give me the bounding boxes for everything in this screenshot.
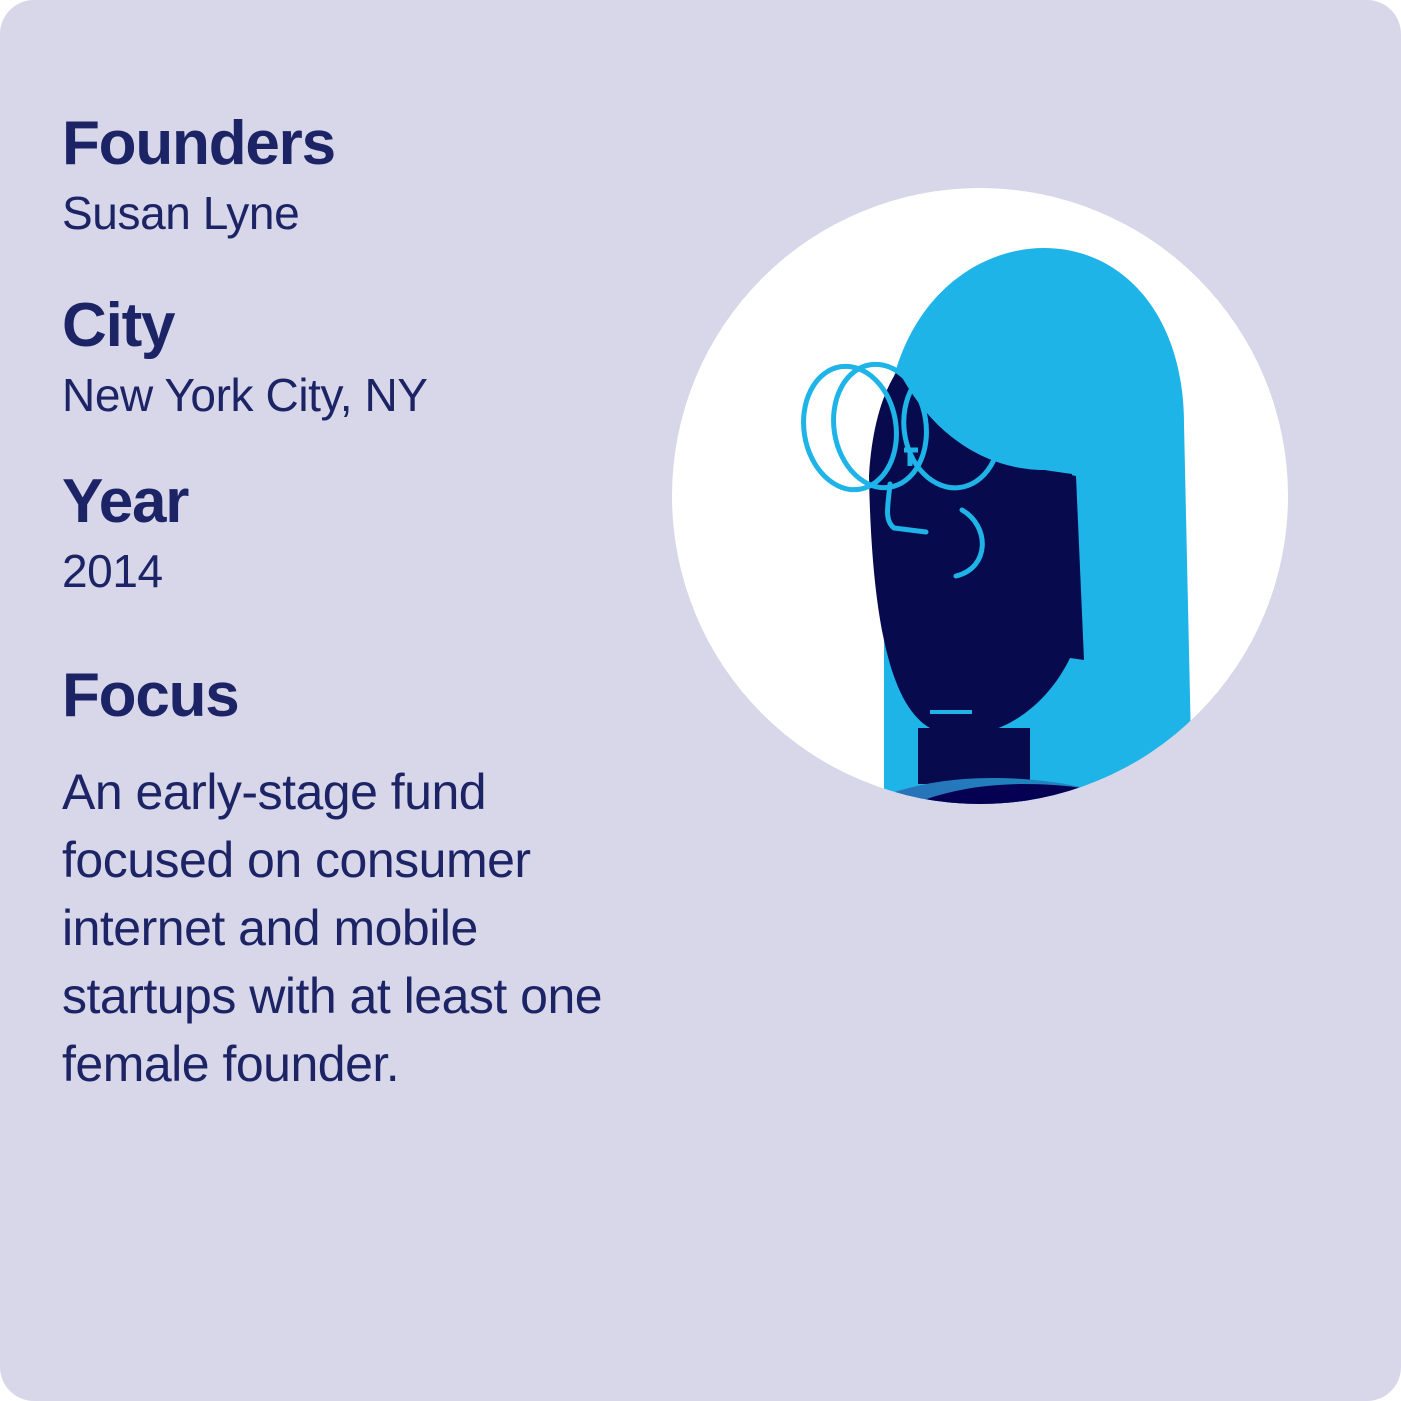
city-label: City <box>62 294 662 358</box>
focus-label: Focus <box>62 664 662 728</box>
field-founders: Founders Susan Lyne <box>62 112 662 240</box>
avatar-svg <box>672 188 1288 804</box>
field-year: Year 2014 <box>62 470 662 598</box>
focus-value: An early-stage fund focused on consumer … <box>62 758 622 1098</box>
field-focus: Focus An early-stage fund focused on con… <box>62 664 662 1098</box>
founder-profile-card: Founders Susan Lyne City New York City, … <box>0 0 1401 1401</box>
year-value: 2014 <box>62 544 662 598</box>
body-shape <box>774 784 1288 804</box>
field-city: City New York City, NY <box>62 294 662 422</box>
founder-info-panel: Founders Susan Lyne City New York City, … <box>62 112 662 1098</box>
founders-value: Susan Lyne <box>62 186 662 240</box>
year-label: Year <box>62 470 662 534</box>
city-value: New York City, NY <box>62 368 662 422</box>
founder-avatar-illustration <box>672 188 1288 804</box>
founders-label: Founders <box>62 112 662 176</box>
